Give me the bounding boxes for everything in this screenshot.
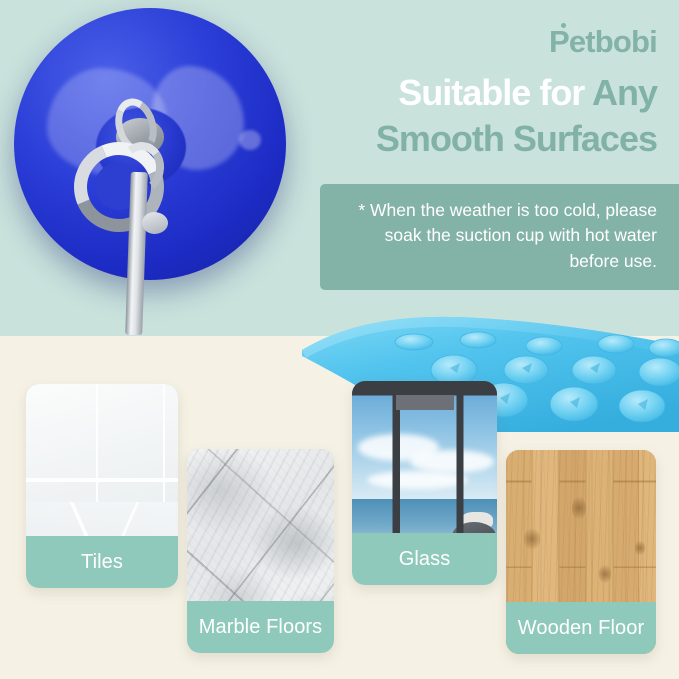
surface-card-marble-floors[interactable]: Marble Floors [187,449,334,653]
surface-card-label: Wooden Floor [506,602,656,654]
cold-weather-note: * When the weather is too cold, please s… [320,184,679,290]
surface-card-wooden-floor[interactable]: Wooden Floor [506,450,656,654]
headline: Suitable for Any Smooth Surfaces [301,70,657,162]
surface-card-label: Marble Floors [187,601,334,653]
headline-line-1-accent: Any [592,72,657,113]
cup-highlight [239,130,261,150]
brand-logo: Petbobi [549,26,657,57]
surface-card-label: Tiles [26,536,178,588]
top-panel: Petbobi Suitable for Any Smooth Surfaces… [0,0,679,336]
product-feature-poster: Petbobi Suitable for Any Smooth Surfaces… [0,0,679,679]
headline-line-1: Suitable for Any [301,70,657,116]
brand-name: Petbobi [549,24,657,59]
surface-card-tiles[interactable]: Tiles [26,384,178,588]
suction-cup-hero-image [0,0,312,335]
carabiner-thumb-latch [142,212,168,234]
surface-card-label: Glass [352,533,497,585]
headline-line-1-white: Suitable for [398,72,592,113]
logo-dot-icon [561,23,566,28]
headline-line-2: Smooth Surfaces [301,116,657,162]
surface-card-glass[interactable]: Glass [352,381,497,585]
